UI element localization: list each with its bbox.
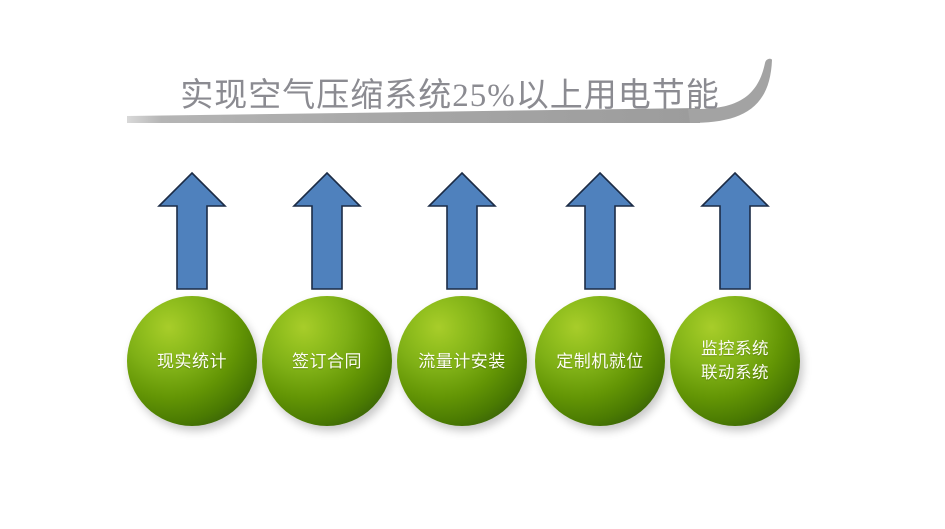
slide-canvas: 实现空气压缩系统25%以上用电节能 — [0, 0, 945, 529]
arrow-up-icon-4 — [564, 170, 636, 292]
arrow-up-icon-3 — [426, 170, 498, 292]
process-step-3[interactable]: 流量计安装 — [397, 296, 527, 426]
process-step-4[interactable]: 定制机就位 — [535, 296, 665, 426]
process-step-1[interactable]: 现实统计 — [127, 296, 257, 426]
page-title: 实现空气压缩系统25%以上用电节能 — [140, 74, 760, 118]
arrow-up-icon-2 — [291, 170, 363, 292]
arrow-up-icon-5 — [699, 170, 771, 292]
process-circle-row: 现实统计 签订合同 流量计安装 定制机就位 监控系统 联动系统 — [0, 296, 945, 436]
process-step-label-3: 流量计安装 — [414, 350, 510, 373]
process-step-2[interactable]: 签订合同 — [262, 296, 392, 426]
title-banner: 实现空气压缩系统25%以上用电节能 — [0, 30, 945, 140]
process-step-label-5: 监控系统 联动系统 — [697, 337, 773, 385]
process-step-label-4: 定制机就位 — [552, 350, 648, 373]
process-step-label-1: 现实统计 — [153, 350, 231, 373]
arrow-row — [0, 170, 945, 295]
process-step-5[interactable]: 监控系统 联动系统 — [670, 296, 800, 426]
arrow-up-icon-1 — [156, 170, 228, 292]
process-step-label-2: 签订合同 — [288, 350, 366, 373]
